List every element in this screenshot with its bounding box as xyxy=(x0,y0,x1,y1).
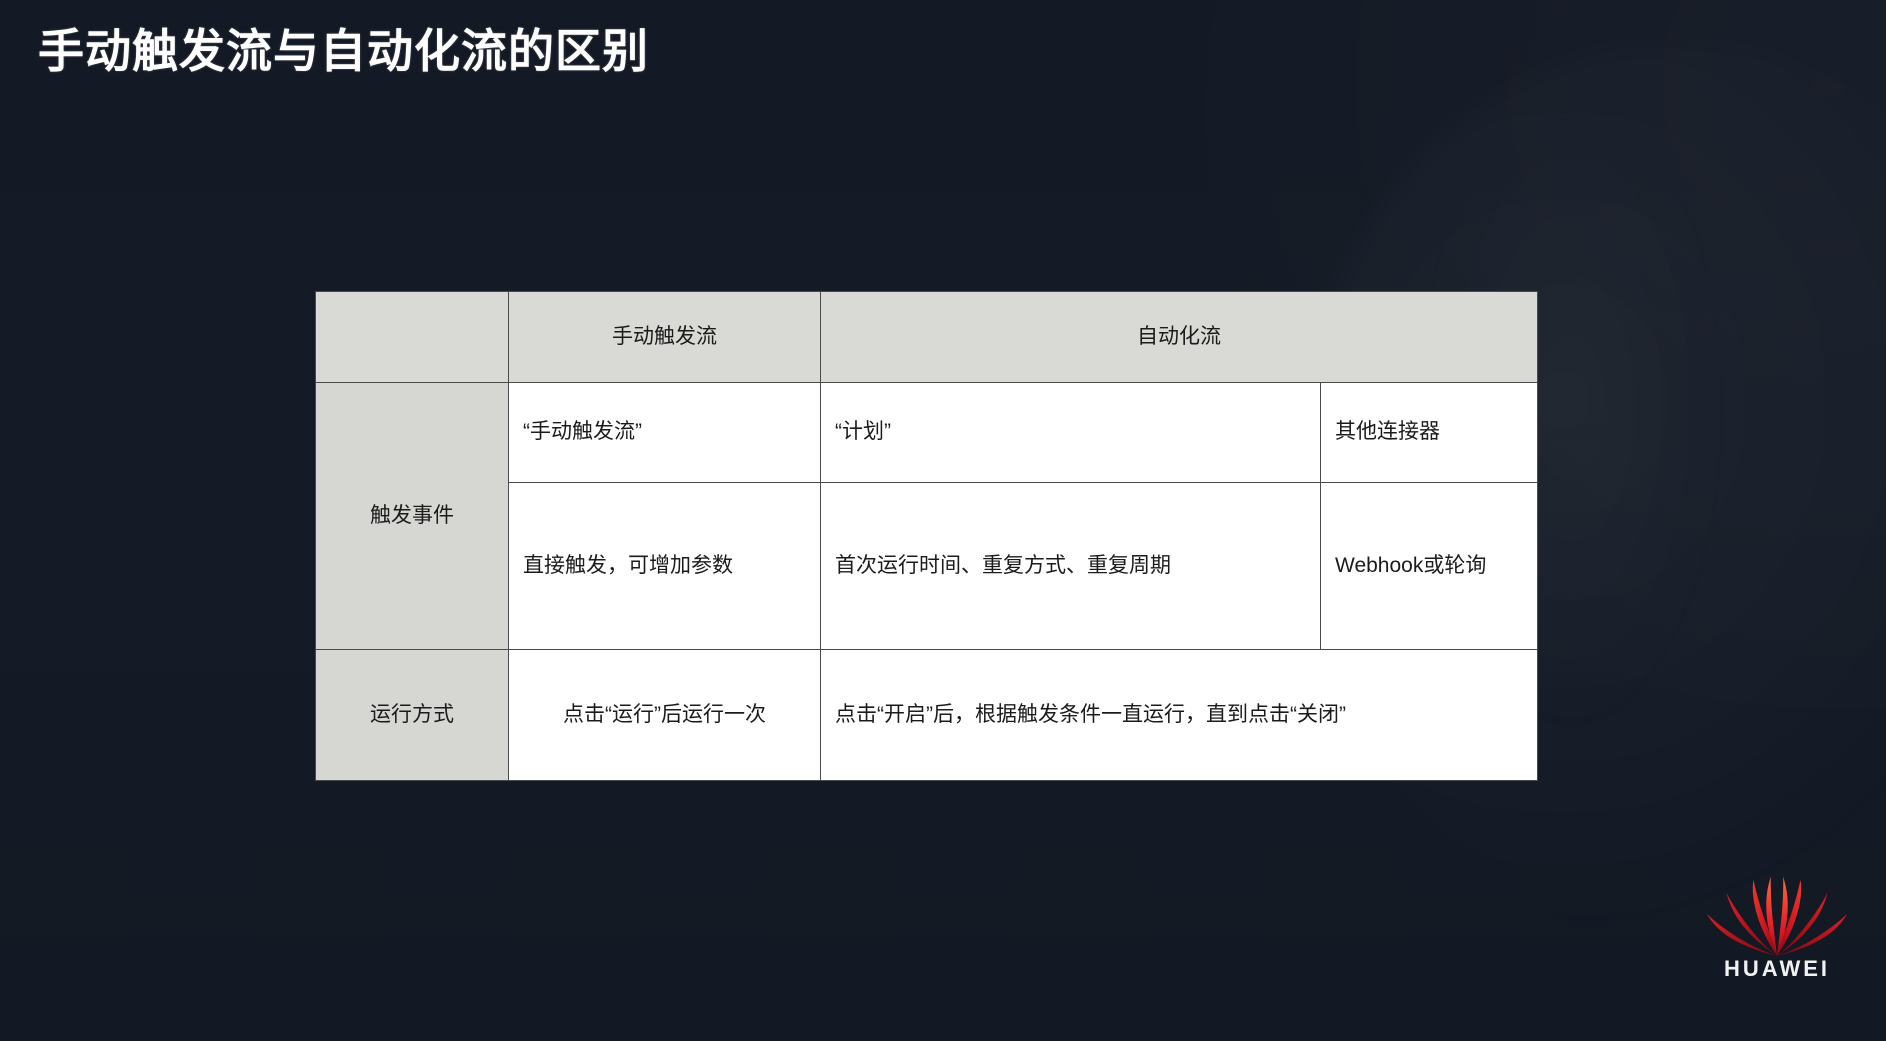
table-row: 触发事件 “手动触发流” “计划” 其他连接器 xyxy=(316,383,1538,483)
comparison-table: 手动触发流 自动化流 触发事件 “手动触发流” “计划” 其他连接器 直接触发，… xyxy=(315,291,1538,781)
comparison-table-container: 手动触发流 自动化流 触发事件 “手动触发流” “计划” 其他连接器 直接触发，… xyxy=(315,291,1537,781)
row-label-run-mode: 运行方式 xyxy=(316,650,509,781)
row-label-trigger-event: 触发事件 xyxy=(316,383,509,650)
huawei-wordmark: HUAWEI xyxy=(1702,956,1852,982)
slide-canvas: 手动触发流与自动化流的区别 手动触发流 自动化流 触发事件 “手动触发流” “计… xyxy=(0,0,1886,1041)
header-cell-automated-flow: 自动化流 xyxy=(821,292,1538,383)
cell-manual-trigger-name: “手动触发流” xyxy=(509,383,821,483)
huawei-flower-icon xyxy=(1702,872,1852,962)
cell-auto-plan-detail: 首次运行时间、重复方式、重复周期 xyxy=(821,483,1321,650)
cell-auto-other-connector-detail: Webhook或轮询 xyxy=(1321,483,1538,650)
header-cell-manual-flow: 手动触发流 xyxy=(509,292,821,383)
cell-manual-trigger-detail: 直接触发，可增加参数 xyxy=(509,483,821,650)
cell-auto-run-mode: 点击“开启”后，根据触发条件一直运行，直到点击“关闭” xyxy=(821,650,1538,781)
page-title: 手动触发流与自动化流的区别 xyxy=(38,15,649,81)
huawei-logo: HUAWEI xyxy=(1702,872,1852,992)
cell-auto-other-connector-name: 其他连接器 xyxy=(1321,383,1538,483)
table-header-row: 手动触发流 自动化流 xyxy=(316,292,1538,383)
cell-manual-run-mode: 点击“运行”后运行一次 xyxy=(509,650,821,781)
cell-auto-plan-name: “计划” xyxy=(821,383,1321,483)
header-cell-blank xyxy=(316,292,509,383)
table-row: 运行方式 点击“运行”后运行一次 点击“开启”后，根据触发条件一直运行，直到点击… xyxy=(316,650,1538,781)
